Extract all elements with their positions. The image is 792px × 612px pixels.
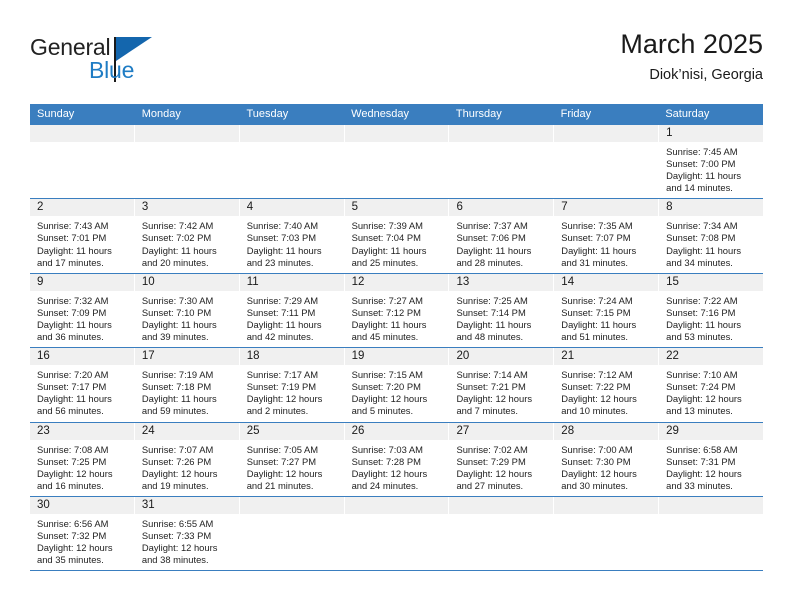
weekday-header-friday: Friday — [554, 104, 659, 125]
general-blue-logo[interactable]: General Blue — [30, 34, 180, 90]
day-sunrise-text: Sunrise: 7:39 AM — [352, 220, 443, 232]
calendar-day-cell[interactable]: 10Sunrise: 7:30 AMSunset: 7:10 PMDayligh… — [135, 274, 240, 347]
day-sun-info: Sunrise: 7:43 AMSunset: 7:01 PMDaylight:… — [30, 216, 134, 268]
day-sun-info: Sunrise: 7:27 AMSunset: 7:12 PMDaylight:… — [345, 291, 449, 343]
day-number: 10 — [135, 274, 239, 291]
day-daylight-line2-text: and 42 minutes. — [247, 331, 338, 343]
day-sunset-text: Sunset: 7:11 PM — [247, 307, 338, 319]
day-number: 21 — [554, 348, 658, 365]
day-sun-info: Sunrise: 7:37 AMSunset: 7:06 PMDaylight:… — [449, 216, 553, 268]
day-number: 6 — [449, 199, 553, 216]
day-sun-info: Sunrise: 7:39 AMSunset: 7:04 PMDaylight:… — [345, 216, 449, 268]
day-number: 8 — [659, 199, 763, 216]
calendar-day-cell-empty — [240, 125, 345, 198]
day-sunset-text: Sunset: 7:08 PM — [666, 232, 757, 244]
day-sunrise-text: Sunrise: 7:45 AM — [666, 146, 757, 158]
day-number: 7 — [554, 199, 658, 216]
calendar-day-cell[interactable]: 30Sunrise: 6:56 AMSunset: 7:32 PMDayligh… — [30, 497, 135, 570]
weekday-header-wednesday: Wednesday — [344, 104, 449, 125]
calendar-day-cell[interactable]: 16Sunrise: 7:20 AMSunset: 7:17 PMDayligh… — [30, 348, 135, 421]
day-sunset-text: Sunset: 7:31 PM — [666, 456, 757, 468]
calendar-day-cell-empty — [449, 125, 554, 198]
day-daylight-line2-text: and 51 minutes. — [561, 331, 652, 343]
calendar-week-row: 23Sunrise: 7:08 AMSunset: 7:25 PMDayligh… — [30, 423, 763, 497]
day-daylight-line1-text: Daylight: 11 hours — [247, 319, 338, 331]
calendar-day-cell-empty — [554, 125, 659, 198]
day-daylight-line1-text: Daylight: 11 hours — [247, 245, 338, 257]
day-number: 5 — [345, 199, 449, 216]
day-sunset-text: Sunset: 7:28 PM — [352, 456, 443, 468]
day-sun-info: Sunrise: 7:15 AMSunset: 7:20 PMDaylight:… — [345, 365, 449, 417]
calendar-day-cell[interactable]: 8Sunrise: 7:34 AMSunset: 7:08 PMDaylight… — [659, 199, 763, 272]
day-sunrise-text: Sunrise: 7:40 AM — [247, 220, 338, 232]
calendar-day-cell[interactable]: 26Sunrise: 7:03 AMSunset: 7:28 PMDayligh… — [345, 423, 450, 496]
weekday-header-sunday: Sunday — [30, 104, 135, 125]
calendar-day-cell[interactable]: 24Sunrise: 7:07 AMSunset: 7:26 PMDayligh… — [135, 423, 240, 496]
day-sun-info: Sunrise: 7:40 AMSunset: 7:03 PMDaylight:… — [240, 216, 344, 268]
day-number: 22 — [659, 348, 763, 365]
day-sun-info: Sunrise: 7:45 AMSunset: 7:00 PMDaylight:… — [659, 142, 763, 194]
calendar-day-cell[interactable]: 14Sunrise: 7:24 AMSunset: 7:15 PMDayligh… — [554, 274, 659, 347]
day-daylight-line1-text: Daylight: 11 hours — [666, 170, 757, 182]
day-sun-info: Sunrise: 7:34 AMSunset: 7:08 PMDaylight:… — [659, 216, 763, 268]
day-number: 16 — [30, 348, 134, 365]
day-sun-info: Sunrise: 6:58 AMSunset: 7:31 PMDaylight:… — [659, 440, 763, 492]
day-sunset-text: Sunset: 7:21 PM — [456, 381, 547, 393]
day-daylight-line1-text: Daylight: 12 hours — [352, 393, 443, 405]
calendar-day-cell-empty — [30, 125, 135, 198]
day-sunset-text: Sunset: 7:24 PM — [666, 381, 757, 393]
day-daylight-line1-text: Daylight: 11 hours — [561, 245, 652, 257]
day-sun-info: Sunrise: 7:02 AMSunset: 7:29 PMDaylight:… — [449, 440, 553, 492]
day-sunset-text: Sunset: 7:00 PM — [666, 158, 757, 170]
day-sun-info: Sunrise: 7:12 AMSunset: 7:22 PMDaylight:… — [554, 365, 658, 417]
day-sunrise-text: Sunrise: 7:19 AM — [142, 369, 233, 381]
day-sunrise-text: Sunrise: 7:43 AM — [37, 220, 128, 232]
day-sunrise-text: Sunrise: 7:10 AM — [666, 369, 757, 381]
calendar-day-cell[interactable]: 13Sunrise: 7:25 AMSunset: 7:14 PMDayligh… — [449, 274, 554, 347]
weekday-header-thursday: Thursday — [449, 104, 554, 125]
calendar-day-cell[interactable]: 21Sunrise: 7:12 AMSunset: 7:22 PMDayligh… — [554, 348, 659, 421]
day-number: 4 — [240, 199, 344, 216]
day-daylight-line2-text: and 35 minutes. — [37, 554, 128, 566]
day-daylight-line2-text: and 24 minutes. — [352, 480, 443, 492]
day-sunrise-text: Sunrise: 7:42 AM — [142, 220, 233, 232]
calendar-day-cell[interactable]: 5Sunrise: 7:39 AMSunset: 7:04 PMDaylight… — [345, 199, 450, 272]
calendar-day-cell[interactable]: 18Sunrise: 7:17 AMSunset: 7:19 PMDayligh… — [240, 348, 345, 421]
day-number — [30, 125, 134, 142]
day-sun-info: Sunrise: 7:24 AMSunset: 7:15 PMDaylight:… — [554, 291, 658, 343]
calendar-day-cell[interactable]: 11Sunrise: 7:29 AMSunset: 7:11 PMDayligh… — [240, 274, 345, 347]
day-sunrise-text: Sunrise: 7:30 AM — [142, 295, 233, 307]
logo-text-blue: Blue — [89, 57, 134, 84]
calendar-day-cell[interactable]: 28Sunrise: 7:00 AMSunset: 7:30 PMDayligh… — [554, 423, 659, 496]
day-number: 12 — [345, 274, 449, 291]
day-sun-info: Sunrise: 7:17 AMSunset: 7:19 PMDaylight:… — [240, 365, 344, 417]
calendar-day-cell-empty — [659, 497, 763, 570]
page-header: General Blue March 2025 Diok’nisi, Georg… — [30, 28, 763, 90]
day-sunrise-text: Sunrise: 7:32 AM — [37, 295, 128, 307]
day-sunrise-text: Sunrise: 7:20 AM — [37, 369, 128, 381]
page-title: March 2025 — [620, 28, 763, 61]
calendar-day-cell-empty — [345, 497, 450, 570]
day-daylight-line1-text: Daylight: 12 hours — [666, 393, 757, 405]
calendar-day-cell[interactable]: 7Sunrise: 7:35 AMSunset: 7:07 PMDaylight… — [554, 199, 659, 272]
calendar-week-row: 16Sunrise: 7:20 AMSunset: 7:17 PMDayligh… — [30, 348, 763, 422]
day-number: 24 — [135, 423, 239, 440]
day-sunrise-text: Sunrise: 7:34 AM — [666, 220, 757, 232]
day-number: 11 — [240, 274, 344, 291]
weekday-header-saturday: Saturday — [658, 104, 763, 125]
day-sunrise-text: Sunrise: 7:03 AM — [352, 444, 443, 456]
day-sunset-text: Sunset: 7:30 PM — [561, 456, 652, 468]
day-number: 30 — [30, 497, 134, 514]
day-number — [449, 497, 553, 514]
day-sunset-text: Sunset: 7:01 PM — [37, 232, 128, 244]
day-sunrise-text: Sunrise: 7:29 AM — [247, 295, 338, 307]
day-sunset-text: Sunset: 7:10 PM — [142, 307, 233, 319]
day-sun-info: Sunrise: 7:00 AMSunset: 7:30 PMDaylight:… — [554, 440, 658, 492]
day-number — [240, 125, 344, 142]
calendar-day-cell-empty — [240, 497, 345, 570]
page-subtitle: Diok’nisi, Georgia — [620, 64, 763, 86]
day-daylight-line1-text: Daylight: 11 hours — [37, 245, 128, 257]
day-sunset-text: Sunset: 7:20 PM — [352, 381, 443, 393]
calendar-day-cell[interactable]: 19Sunrise: 7:15 AMSunset: 7:20 PMDayligh… — [345, 348, 450, 421]
day-sun-info: Sunrise: 7:07 AMSunset: 7:26 PMDaylight:… — [135, 440, 239, 492]
day-sunset-text: Sunset: 7:16 PM — [666, 307, 757, 319]
day-daylight-line2-text: and 16 minutes. — [37, 480, 128, 492]
calendar-grid: SundayMondayTuesdayWednesdayThursdayFrid… — [30, 104, 763, 571]
day-number: 19 — [345, 348, 449, 365]
day-daylight-line1-text: Daylight: 11 hours — [456, 319, 547, 331]
day-daylight-line2-text: and 31 minutes. — [561, 257, 652, 269]
calendar-day-cell[interactable]: 4Sunrise: 7:40 AMSunset: 7:03 PMDaylight… — [240, 199, 345, 272]
calendar-day-cell-empty — [554, 497, 659, 570]
day-daylight-line2-text: and 39 minutes. — [142, 331, 233, 343]
day-daylight-line2-text: and 56 minutes. — [37, 405, 128, 417]
day-daylight-line1-text: Daylight: 12 hours — [247, 393, 338, 405]
day-sunset-text: Sunset: 7:18 PM — [142, 381, 233, 393]
day-sunrise-text: Sunrise: 7:02 AM — [456, 444, 547, 456]
calendar-day-cell[interactable]: 20Sunrise: 7:14 AMSunset: 7:21 PMDayligh… — [449, 348, 554, 421]
day-daylight-line1-text: Daylight: 11 hours — [142, 245, 233, 257]
day-number: 2 — [30, 199, 134, 216]
calendar-week-row: 2Sunrise: 7:43 AMSunset: 7:01 PMDaylight… — [30, 199, 763, 273]
day-sunrise-text: Sunrise: 7:05 AM — [247, 444, 338, 456]
calendar-day-cell[interactable]: 2Sunrise: 7:43 AMSunset: 7:01 PMDaylight… — [30, 199, 135, 272]
day-sun-info: Sunrise: 7:19 AMSunset: 7:18 PMDaylight:… — [135, 365, 239, 417]
day-sunrise-text: Sunrise: 7:12 AM — [561, 369, 652, 381]
day-sun-info: Sunrise: 7:14 AMSunset: 7:21 PMDaylight:… — [449, 365, 553, 417]
day-daylight-line1-text: Daylight: 11 hours — [37, 393, 128, 405]
day-sunrise-text: Sunrise: 6:55 AM — [142, 518, 233, 530]
day-sunset-text: Sunset: 7:03 PM — [247, 232, 338, 244]
title-block: March 2025 Diok’nisi, Georgia — [620, 28, 763, 86]
day-number — [449, 125, 553, 142]
day-number: 1 — [659, 125, 763, 142]
day-daylight-line2-text: and 23 minutes. — [247, 257, 338, 269]
day-daylight-line1-text: Daylight: 12 hours — [456, 468, 547, 480]
day-daylight-line1-text: Daylight: 12 hours — [37, 468, 128, 480]
day-number: 27 — [449, 423, 553, 440]
calendar-day-cell[interactable]: 6Sunrise: 7:37 AMSunset: 7:06 PMDaylight… — [449, 199, 554, 272]
day-number: 13 — [449, 274, 553, 291]
day-daylight-line2-text: and 10 minutes. — [561, 405, 652, 417]
day-number: 23 — [30, 423, 134, 440]
day-sunset-text: Sunset: 7:25 PM — [37, 456, 128, 468]
day-sunrise-text: Sunrise: 7:22 AM — [666, 295, 757, 307]
day-sunset-text: Sunset: 7:07 PM — [561, 232, 652, 244]
day-daylight-line2-text: and 33 minutes. — [666, 480, 757, 492]
day-daylight-line2-text: and 48 minutes. — [456, 331, 547, 343]
day-sunset-text: Sunset: 7:17 PM — [37, 381, 128, 393]
calendar-day-cell[interactable]: 29Sunrise: 6:58 AMSunset: 7:31 PMDayligh… — [659, 423, 763, 496]
day-sunrise-text: Sunrise: 7:37 AM — [456, 220, 547, 232]
day-daylight-line2-text: and 19 minutes. — [142, 480, 233, 492]
day-sunrise-text: Sunrise: 7:17 AM — [247, 369, 338, 381]
day-daylight-line1-text: Daylight: 12 hours — [37, 542, 128, 554]
calendar-day-cell[interactable]: 31Sunrise: 6:55 AMSunset: 7:33 PMDayligh… — [135, 497, 240, 570]
day-daylight-line1-text: Daylight: 12 hours — [142, 542, 233, 554]
day-daylight-line1-text: Daylight: 12 hours — [142, 468, 233, 480]
calendar-week-row: 9Sunrise: 7:32 AMSunset: 7:09 PMDaylight… — [30, 274, 763, 348]
day-sunrise-text: Sunrise: 7:07 AM — [142, 444, 233, 456]
day-daylight-line2-text: and 45 minutes. — [352, 331, 443, 343]
day-sunrise-text: Sunrise: 7:35 AM — [561, 220, 652, 232]
day-number — [345, 125, 449, 142]
weekday-header-tuesday: Tuesday — [239, 104, 344, 125]
day-daylight-line2-text: and 5 minutes. — [352, 405, 443, 417]
calendar-day-cell[interactable]: 1Sunrise: 7:45 AMSunset: 7:00 PMDaylight… — [659, 125, 763, 198]
day-daylight-line2-text: and 20 minutes. — [142, 257, 233, 269]
calendar-week-row: 1Sunrise: 7:45 AMSunset: 7:00 PMDaylight… — [30, 125, 763, 199]
day-sunset-text: Sunset: 7:02 PM — [142, 232, 233, 244]
day-number: 29 — [659, 423, 763, 440]
day-number: 18 — [240, 348, 344, 365]
day-daylight-line1-text: Daylight: 12 hours — [666, 468, 757, 480]
calendar-day-cell[interactable]: 15Sunrise: 7:22 AMSunset: 7:16 PMDayligh… — [659, 274, 763, 347]
day-daylight-line1-text: Daylight: 11 hours — [142, 319, 233, 331]
day-sun-info: Sunrise: 7:35 AMSunset: 7:07 PMDaylight:… — [554, 216, 658, 268]
calendar-day-cell[interactable]: 22Sunrise: 7:10 AMSunset: 7:24 PMDayligh… — [659, 348, 763, 421]
day-daylight-line2-text: and 7 minutes. — [456, 405, 547, 417]
day-sun-info: Sunrise: 7:42 AMSunset: 7:02 PMDaylight:… — [135, 216, 239, 268]
day-daylight-line1-text: Daylight: 12 hours — [247, 468, 338, 480]
day-number: 3 — [135, 199, 239, 216]
day-number — [659, 497, 763, 514]
day-daylight-line2-text: and 38 minutes. — [142, 554, 233, 566]
calendar-day-cell[interactable]: 27Sunrise: 7:02 AMSunset: 7:29 PMDayligh… — [449, 423, 554, 496]
day-sunset-text: Sunset: 7:33 PM — [142, 530, 233, 542]
day-number: 9 — [30, 274, 134, 291]
day-sunrise-text: Sunrise: 7:15 AM — [352, 369, 443, 381]
day-daylight-line1-text: Daylight: 11 hours — [142, 393, 233, 405]
day-sunrise-text: Sunrise: 7:08 AM — [37, 444, 128, 456]
day-number — [554, 125, 658, 142]
day-sunset-text: Sunset: 7:22 PM — [561, 381, 652, 393]
day-daylight-line2-text: and 53 minutes. — [666, 331, 757, 343]
day-sunset-text: Sunset: 7:14 PM — [456, 307, 547, 319]
day-sunset-text: Sunset: 7:09 PM — [37, 307, 128, 319]
day-sunrise-text: Sunrise: 6:58 AM — [666, 444, 757, 456]
calendar-day-cell[interactable]: 9Sunrise: 7:32 AMSunset: 7:09 PMDaylight… — [30, 274, 135, 347]
day-sunrise-text: Sunrise: 6:56 AM — [37, 518, 128, 530]
day-daylight-line2-text: and 17 minutes. — [37, 257, 128, 269]
day-number: 25 — [240, 423, 344, 440]
day-daylight-line1-text: Daylight: 11 hours — [352, 319, 443, 331]
calendar-day-cell[interactable]: 25Sunrise: 7:05 AMSunset: 7:27 PMDayligh… — [240, 423, 345, 496]
day-sunrise-text: Sunrise: 7:00 AM — [561, 444, 652, 456]
day-daylight-line1-text: Daylight: 11 hours — [352, 245, 443, 257]
day-daylight-line1-text: Daylight: 12 hours — [456, 393, 547, 405]
day-daylight-line1-text: Daylight: 12 hours — [561, 393, 652, 405]
day-sun-info: Sunrise: 7:29 AMSunset: 7:11 PMDaylight:… — [240, 291, 344, 343]
day-daylight-line1-text: Daylight: 11 hours — [456, 245, 547, 257]
day-number: 20 — [449, 348, 553, 365]
day-sun-info: Sunrise: 7:32 AMSunset: 7:09 PMDaylight:… — [30, 291, 134, 343]
day-daylight-line1-text: Daylight: 11 hours — [561, 319, 652, 331]
day-number — [240, 497, 344, 514]
day-daylight-line2-text: and 14 minutes. — [666, 182, 757, 194]
day-number — [135, 125, 239, 142]
day-number: 28 — [554, 423, 658, 440]
day-sun-info: Sunrise: 7:20 AMSunset: 7:17 PMDaylight:… — [30, 365, 134, 417]
day-daylight-line2-text: and 2 minutes. — [247, 405, 338, 417]
day-sunrise-text: Sunrise: 7:14 AM — [456, 369, 547, 381]
day-daylight-line1-text: Daylight: 12 hours — [352, 468, 443, 480]
day-daylight-line1-text: Daylight: 11 hours — [37, 319, 128, 331]
calendar-weeks: 1Sunrise: 7:45 AMSunset: 7:00 PMDaylight… — [30, 125, 763, 571]
day-sun-info: Sunrise: 7:22 AMSunset: 7:16 PMDaylight:… — [659, 291, 763, 343]
day-sunset-text: Sunset: 7:26 PM — [142, 456, 233, 468]
day-daylight-line2-text: and 25 minutes. — [352, 257, 443, 269]
day-daylight-line2-text: and 13 minutes. — [666, 405, 757, 417]
calendar-week-row: 30Sunrise: 6:56 AMSunset: 7:32 PMDayligh… — [30, 497, 763, 571]
day-daylight-line2-text: and 21 minutes. — [247, 480, 338, 492]
calendar-day-cell[interactable]: 23Sunrise: 7:08 AMSunset: 7:25 PMDayligh… — [30, 423, 135, 496]
day-daylight-line2-text: and 30 minutes. — [561, 480, 652, 492]
weekday-header-row: SundayMondayTuesdayWednesdayThursdayFrid… — [30, 104, 763, 125]
day-number: 14 — [554, 274, 658, 291]
day-sunset-text: Sunset: 7:12 PM — [352, 307, 443, 319]
day-sun-info: Sunrise: 7:30 AMSunset: 7:10 PMDaylight:… — [135, 291, 239, 343]
day-sun-info: Sunrise: 7:10 AMSunset: 7:24 PMDaylight:… — [659, 365, 763, 417]
day-daylight-line2-text: and 36 minutes. — [37, 331, 128, 343]
day-sunset-text: Sunset: 7:32 PM — [37, 530, 128, 542]
day-number: 17 — [135, 348, 239, 365]
day-sunset-text: Sunset: 7:27 PM — [247, 456, 338, 468]
day-daylight-line2-text: and 27 minutes. — [456, 480, 547, 492]
day-number — [554, 497, 658, 514]
day-number: 31 — [135, 497, 239, 514]
calendar-day-cell[interactable]: 17Sunrise: 7:19 AMSunset: 7:18 PMDayligh… — [135, 348, 240, 421]
day-sun-info: Sunrise: 7:08 AMSunset: 7:25 PMDaylight:… — [30, 440, 134, 492]
day-sunset-text: Sunset: 7:15 PM — [561, 307, 652, 319]
day-number — [345, 497, 449, 514]
day-sunset-text: Sunset: 7:29 PM — [456, 456, 547, 468]
calendar-day-cell-empty — [449, 497, 554, 570]
day-daylight-line1-text: Daylight: 12 hours — [561, 468, 652, 480]
day-daylight-line1-text: Daylight: 11 hours — [666, 245, 757, 257]
day-sunset-text: Sunset: 7:04 PM — [352, 232, 443, 244]
calendar-day-cell-empty — [135, 125, 240, 198]
weekday-header-monday: Monday — [135, 104, 240, 125]
day-sunrise-text: Sunrise: 7:25 AM — [456, 295, 547, 307]
day-sun-info: Sunrise: 7:25 AMSunset: 7:14 PMDaylight:… — [449, 291, 553, 343]
day-daylight-line2-text: and 59 minutes. — [142, 405, 233, 417]
calendar-day-cell[interactable]: 12Sunrise: 7:27 AMSunset: 7:12 PMDayligh… — [345, 274, 450, 347]
day-number: 26 — [345, 423, 449, 440]
day-sun-info: Sunrise: 7:03 AMSunset: 7:28 PMDaylight:… — [345, 440, 449, 492]
day-sunset-text: Sunset: 7:19 PM — [247, 381, 338, 393]
day-daylight-line2-text: and 28 minutes. — [456, 257, 547, 269]
calendar-day-cell-empty — [345, 125, 450, 198]
calendar-day-cell[interactable]: 3Sunrise: 7:42 AMSunset: 7:02 PMDaylight… — [135, 199, 240, 272]
day-number: 15 — [659, 274, 763, 291]
day-sun-info: Sunrise: 6:56 AMSunset: 7:32 PMDaylight:… — [30, 514, 134, 566]
day-sunrise-text: Sunrise: 7:27 AM — [352, 295, 443, 307]
day-daylight-line1-text: Daylight: 11 hours — [666, 319, 757, 331]
calendar-page: General Blue March 2025 Diok’nisi, Georg… — [0, 0, 792, 612]
day-sunrise-text: Sunrise: 7:24 AM — [561, 295, 652, 307]
day-sun-info: Sunrise: 6:55 AMSunset: 7:33 PMDaylight:… — [135, 514, 239, 566]
day-sun-info: Sunrise: 7:05 AMSunset: 7:27 PMDaylight:… — [240, 440, 344, 492]
day-daylight-line2-text: and 34 minutes. — [666, 257, 757, 269]
day-sunset-text: Sunset: 7:06 PM — [456, 232, 547, 244]
